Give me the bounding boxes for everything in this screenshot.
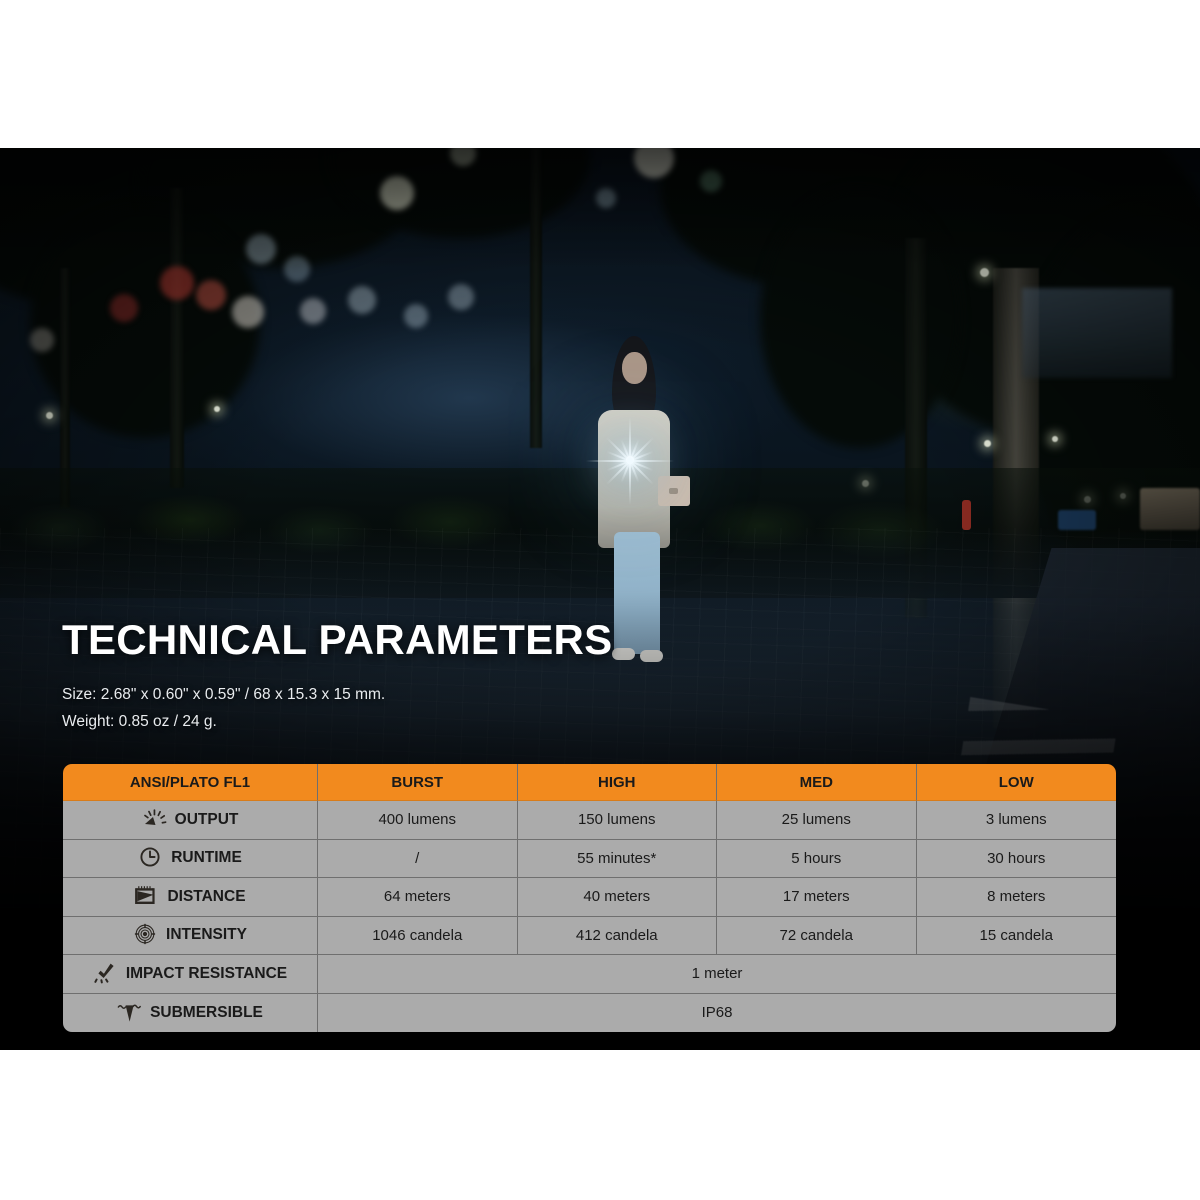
cell-intensity-low: 15 candela <box>917 917 1117 956</box>
cell-intensity-high: 412 candela <box>518 917 718 956</box>
cell-distance-low: 8 meters <box>917 878 1117 917</box>
cell-runtime-low: 30 hours <box>917 840 1117 879</box>
row-label-text: DISTANCE <box>167 888 245 905</box>
row-label-text: RUNTIME <box>171 849 242 866</box>
row-label-runtime: RUNTIME <box>63 840 318 879</box>
weight-line: Weight: 0.85 oz / 24 g. <box>62 708 385 735</box>
cell-intensity-burst: 1046 candela <box>318 917 518 956</box>
cell-runtime-burst: / <box>318 840 518 879</box>
impact-icon <box>93 962 119 984</box>
page-title: TECHNICAL PARAMETERS <box>62 614 612 666</box>
submersible-icon <box>117 1001 143 1023</box>
cell-output-med: 25 lumens <box>717 801 917 840</box>
row-label-text: OUTPUT <box>175 811 239 828</box>
table-row: INTENSITY 1046 candela 412 candela 72 ca… <box>63 917 1116 956</box>
spec-summary: Size: 2.68" x 0.60" x 0.59" / 68 x 15.3 … <box>62 681 385 735</box>
table-header: ANSI/PLATO FL1 BURST HIGH MED LOW <box>63 764 1116 801</box>
table-row: IMPACT RESISTANCE 1 meter <box>63 955 1116 994</box>
row-label-distance: DISTANCE <box>63 878 318 917</box>
table-row: SUBMERSIBLE IP68 <box>63 994 1116 1033</box>
cell-runtime-med: 5 hours <box>717 840 917 879</box>
cell-output-burst: 400 lumens <box>318 801 518 840</box>
column-header-burst: BURST <box>318 764 518 801</box>
row-label-impact-resistance: IMPACT RESISTANCE <box>63 955 318 994</box>
column-header-low: LOW <box>917 764 1117 801</box>
row-label-intensity: INTENSITY <box>63 917 318 956</box>
technical-parameters-table: ANSI/PLATO FL1 BURST HIGH MED LOW <box>63 764 1116 1032</box>
column-header-high: HIGH <box>518 764 718 801</box>
target-icon <box>133 923 159 945</box>
cell-intensity-med: 72 candela <box>717 917 917 956</box>
row-label-text: SUBMERSIBLE <box>150 1004 263 1021</box>
cell-distance-med: 17 meters <box>717 878 917 917</box>
cell-runtime-high: 55 minutes* <box>518 840 718 879</box>
cell-distance-burst: 64 meters <box>318 878 518 917</box>
page-title-wrap: TECHNICAL PARAMETERS <box>62 614 612 666</box>
row-label-text: IMPACT RESISTANCE <box>126 965 287 982</box>
column-header-med: MED <box>717 764 917 801</box>
table-body: OUTPUT 400 lumens 150 lumens 25 lumens 3… <box>63 801 1116 1032</box>
ruler-icon <box>134 885 160 907</box>
column-header-standard: ANSI/PLATO FL1 <box>63 764 318 801</box>
dark-content-band: TECHNICAL PARAMETERS Size: 2.68" x 0.60"… <box>0 148 1200 1050</box>
table-header-row: ANSI/PLATO FL1 BURST HIGH MED LOW <box>63 764 1116 801</box>
sunburst-icon <box>142 808 168 830</box>
cell-submersible-value: IP68 <box>318 994 1116 1033</box>
cell-output-high: 150 lumens <box>518 801 718 840</box>
clock-icon <box>138 846 164 868</box>
table-row: RUNTIME / 55 minutes* 5 hours 30 hours <box>63 840 1116 879</box>
row-label-submersible: SUBMERSIBLE <box>63 994 318 1033</box>
table-row: DISTANCE 64 meters 40 meters 17 meters 8… <box>63 878 1116 917</box>
page-root: TECHNICAL PARAMETERS Size: 2.68" x 0.60"… <box>0 0 1200 1200</box>
row-label-text: INTENSITY <box>166 926 247 943</box>
size-line: Size: 2.68" x 0.60" x 0.59" / 68 x 15.3 … <box>62 681 385 708</box>
cell-distance-high: 40 meters <box>518 878 718 917</box>
cell-output-low: 3 lumens <box>917 801 1117 840</box>
cell-impact-resistance-value: 1 meter <box>318 955 1116 994</box>
row-label-output: OUTPUT <box>63 801 318 840</box>
table-row: OUTPUT 400 lumens 150 lumens 25 lumens 3… <box>63 801 1116 840</box>
